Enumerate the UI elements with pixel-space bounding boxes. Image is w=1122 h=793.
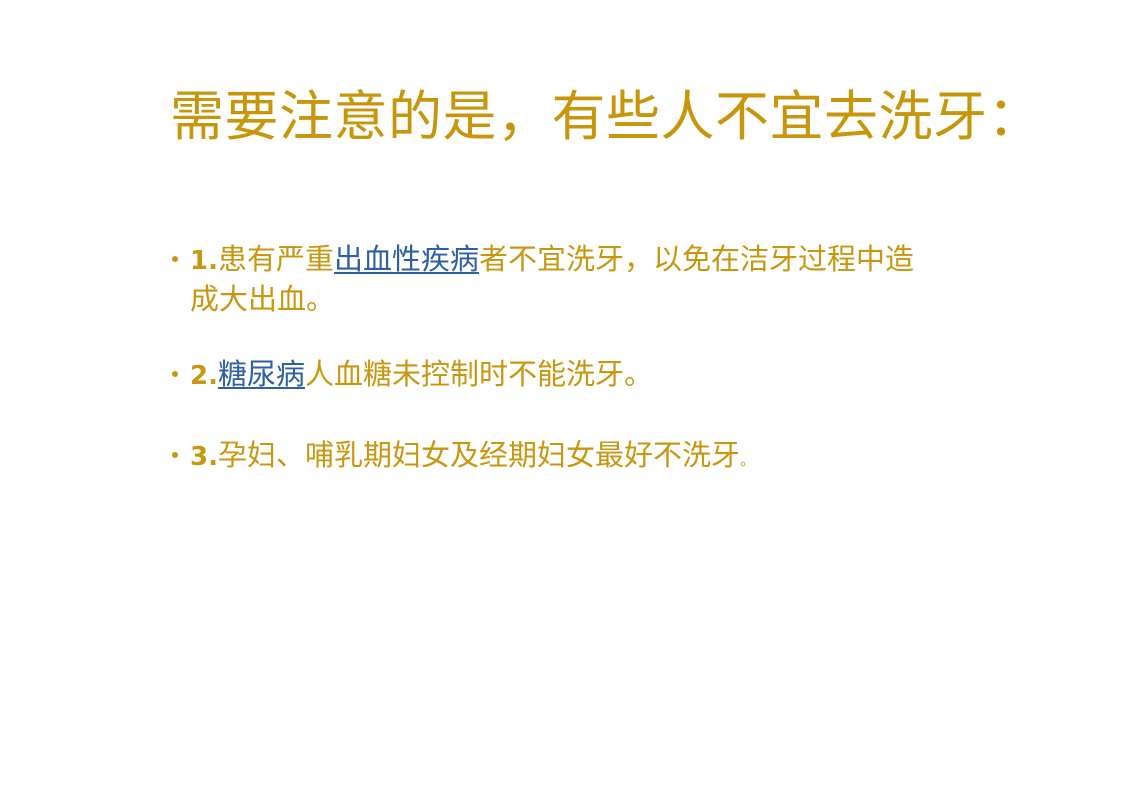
list-item: 1.患有严重出血性疾病者不宜洗牙，以免在洁牙过程中造成大出血。: [168, 240, 920, 318]
bullet-dot-icon: [172, 256, 178, 262]
hyperlink-diabetes[interactable]: 糖尿病: [218, 357, 305, 391]
list-item-number: 2.: [190, 361, 218, 391]
slide-canvas: 需要注意的是，有些人不宜去洗牙： 1.患有严重出血性疾病者不宜洗牙，以免在洁牙过…: [0, 0, 1122, 793]
list-item-number: 1.: [190, 246, 218, 276]
page-title: 需要注意的是，有些人不宜去洗牙：: [170, 84, 1040, 150]
list-item-trailing-period: 。: [740, 451, 755, 469]
list-item-number: 3.: [190, 442, 218, 472]
hyperlink-bleeding-disorder[interactable]: 出血性疾病: [334, 242, 479, 276]
list-item-text-before-link: 患有严重: [218, 242, 334, 276]
list-item: 3.孕妇、哺乳期妇女及经期妇女最好不洗牙。: [168, 436, 920, 479]
bullet-dot-icon: [172, 371, 178, 377]
list-item: 2.糖尿病人血糖未控制时不能洗牙。: [168, 355, 920, 395]
list-item-text-before-link: 孕妇、哺乳期妇女及经期妇女最好不洗牙: [218, 438, 740, 472]
bullet-dot-icon: [172, 452, 178, 458]
list-item-text-after-link: 人血糖未控制时不能洗牙。: [305, 357, 653, 391]
